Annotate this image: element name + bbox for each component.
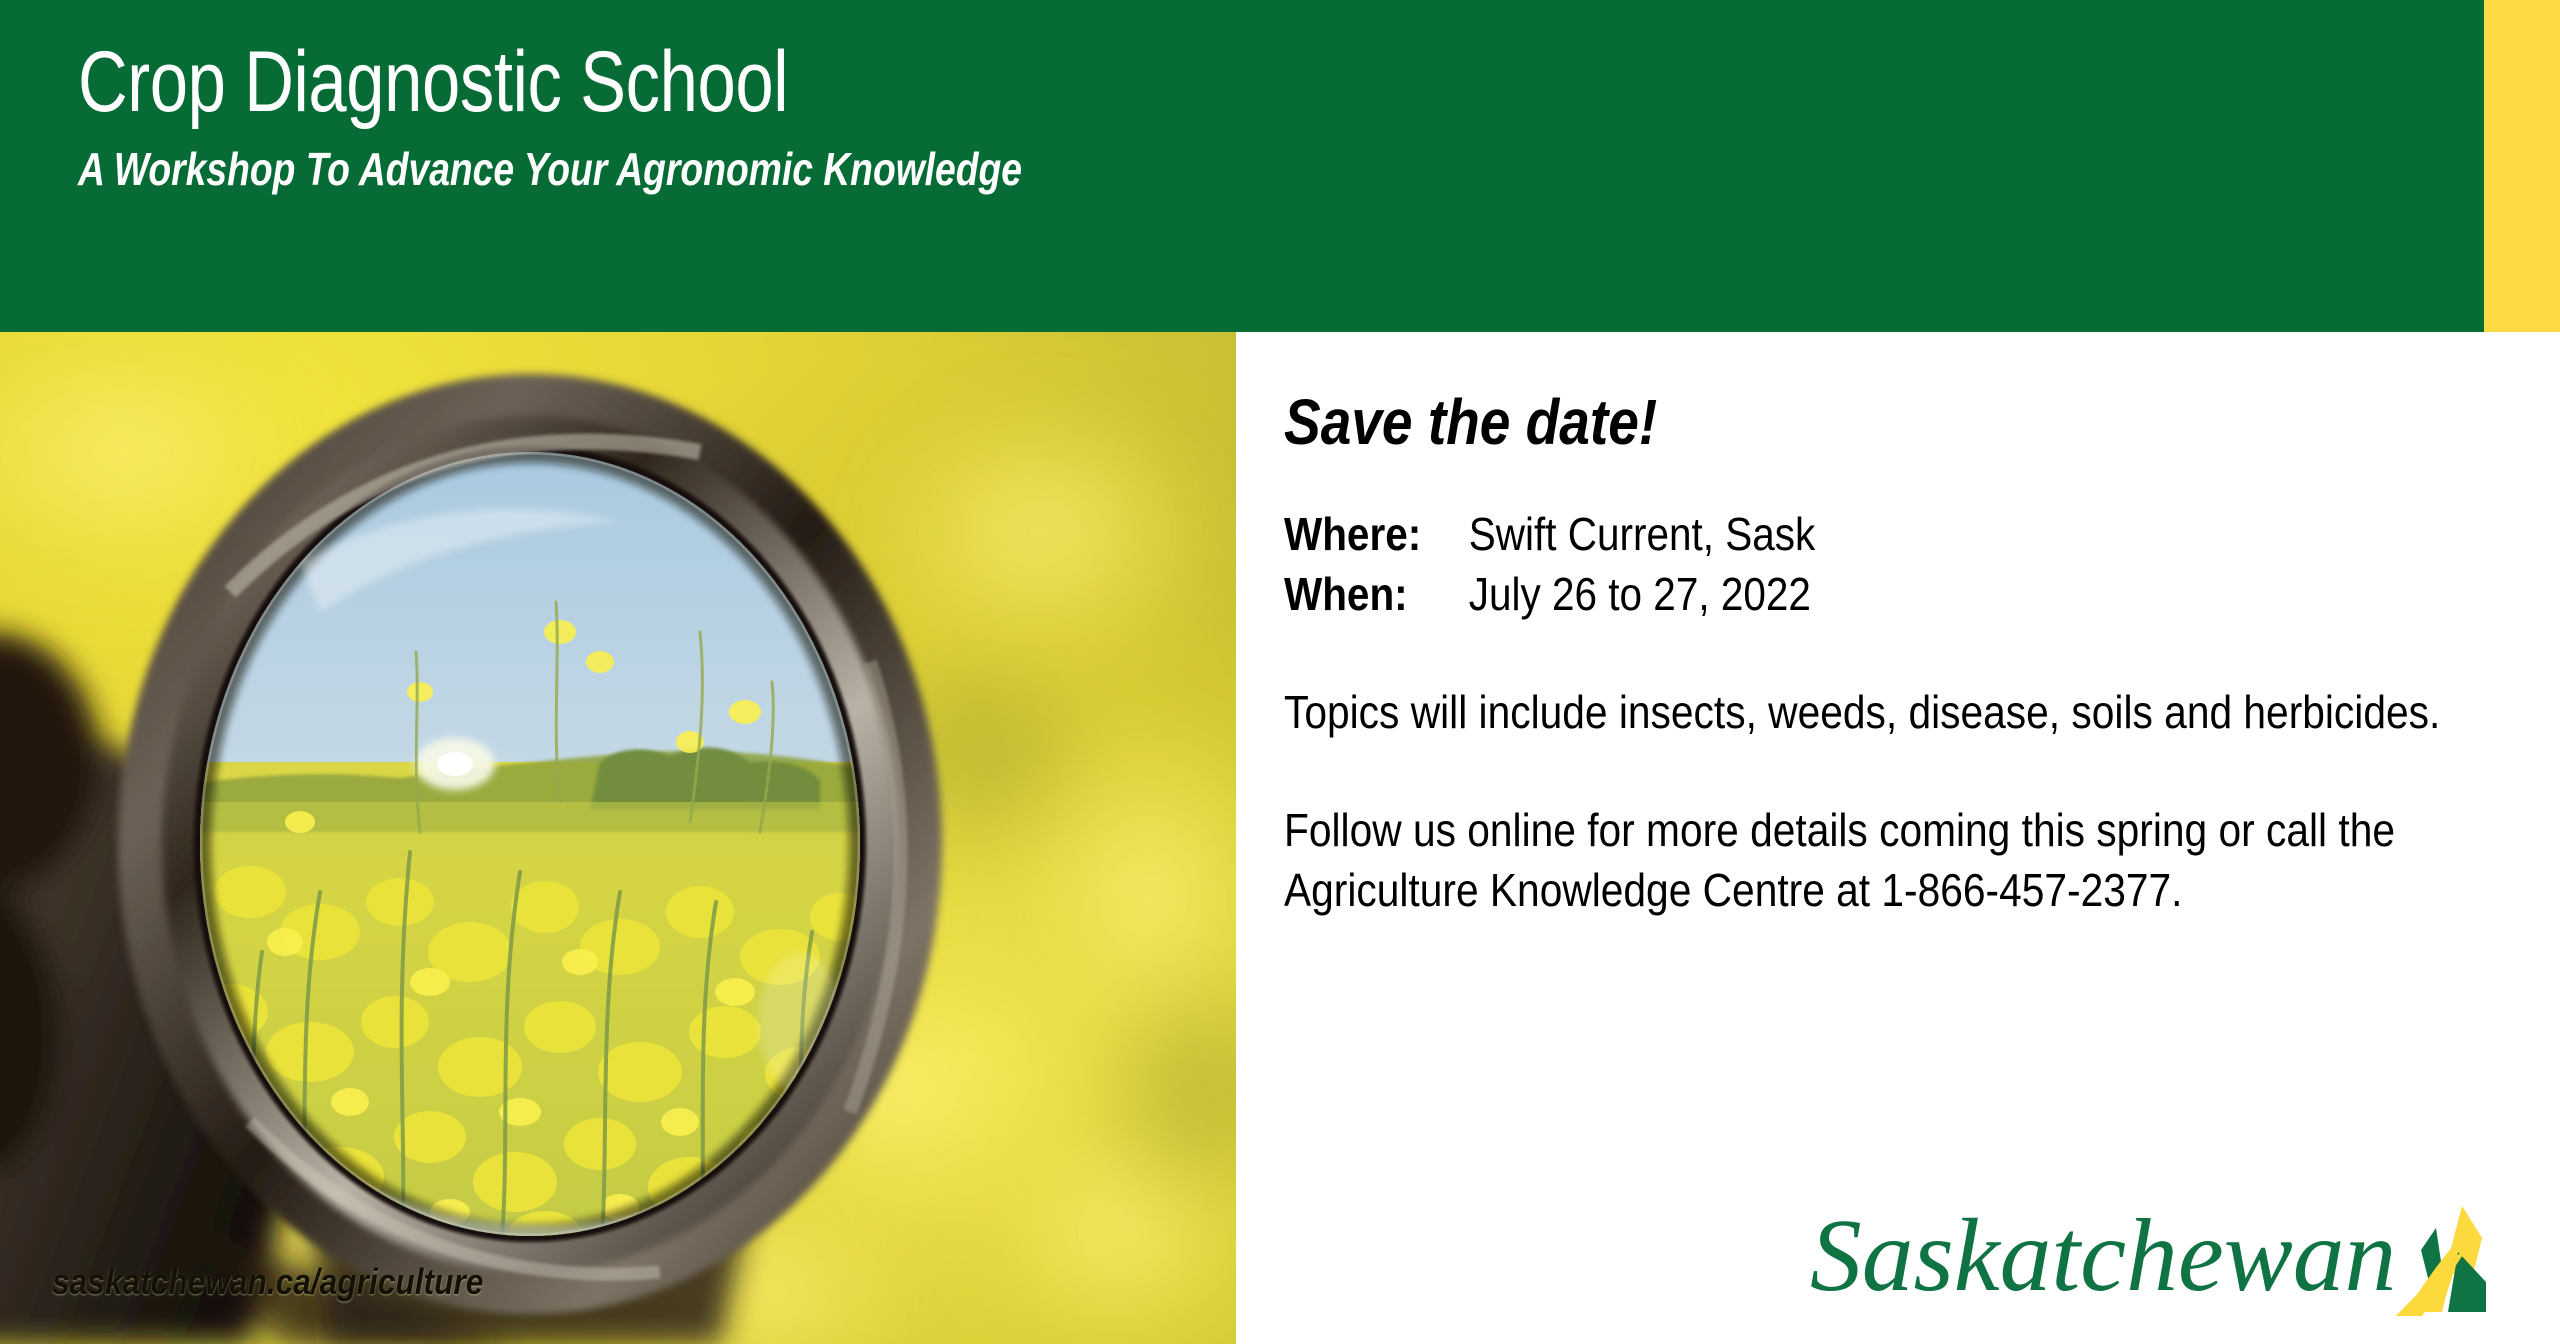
save-the-date-heading: Save the date! (1284, 386, 2342, 458)
when-label: When: (1284, 564, 1469, 624)
event-details-list: Where: Swift Current, Sask When: July 26… (1284, 504, 2514, 624)
page-subtitle: A Workshop To Advance Your Agronomic Kno… (78, 140, 1941, 198)
detail-row-where: Where: Swift Current, Sask (1284, 504, 2366, 564)
info-panel: Save the date! Where: Swift Current, Sas… (1236, 332, 2560, 1344)
detail-row-when: When: July 26 to 27, 2022 (1284, 564, 2366, 624)
canola-magnifier-photo: saskatchewan.ca/agriculture (0, 332, 1236, 1344)
poster-root: Crop Diagnostic School A Workshop To Adv… (0, 0, 2560, 1344)
header-text-group: Crop Diagnostic School A Workshop To Adv… (78, 30, 2378, 198)
info-panel-content: Save the date! Where: Swift Current, Sas… (1284, 386, 2514, 920)
header-yellow-accent-block (2484, 0, 2560, 332)
topics-paragraph: Topics will include insects, weeds, dise… (1284, 682, 2505, 742)
when-value: July 26 to 27, 2022 (1469, 564, 1811, 624)
header-banner: Crop Diagnostic School A Workshop To Adv… (0, 0, 2560, 332)
page-title: Crop Diagnostic School (78, 30, 1918, 134)
where-label: Where: (1284, 504, 1469, 564)
where-value: Swift Current, Sask (1469, 504, 1815, 564)
follow-us-paragraph: Follow us online for more details coming… (1284, 800, 2505, 920)
photo-illustration (0, 332, 1236, 1344)
saskatchewan-leaf-emblem (2396, 1206, 2486, 1316)
saskatchewan-wordmark-text: Saskatchewan (1810, 1199, 2396, 1313)
website-url-caption: saskatchewan.ca/agriculture (52, 1262, 483, 1302)
saskatchewan-logo-mark: Saskatchewan (1810, 1194, 2510, 1322)
saskatchewan-logo: Saskatchewan (1810, 1194, 2510, 1322)
